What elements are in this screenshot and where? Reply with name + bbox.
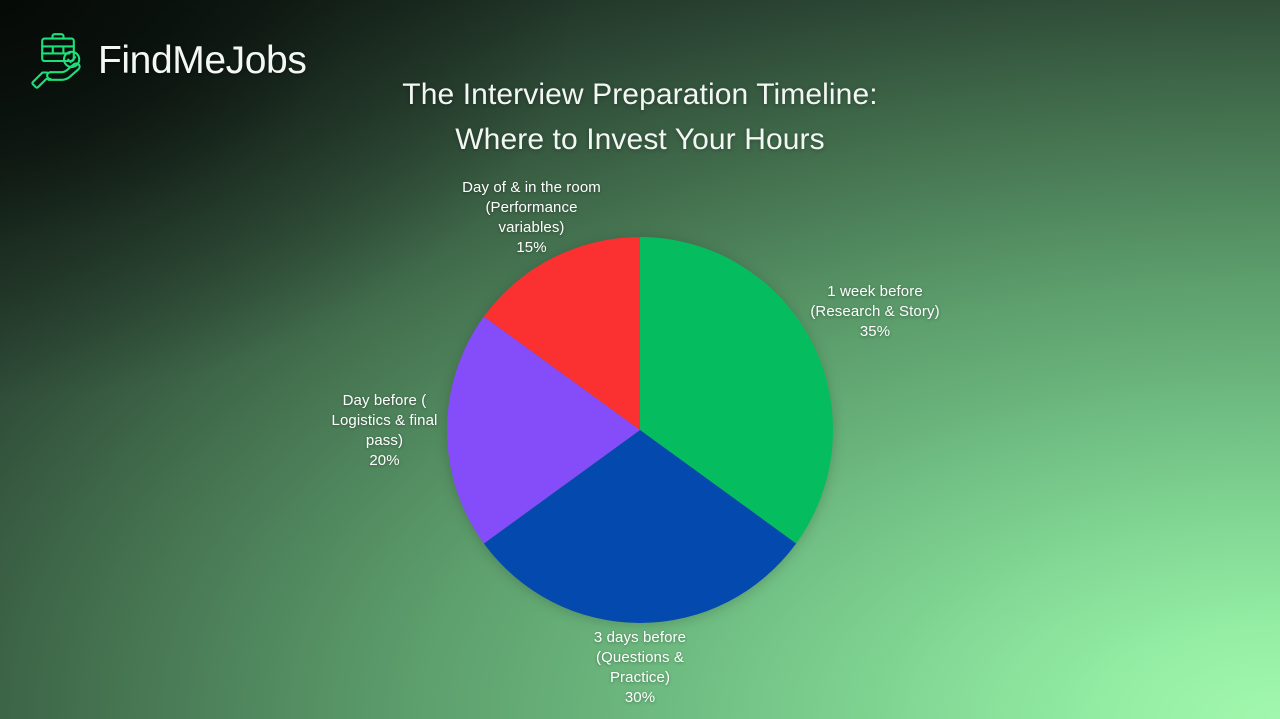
pie-slice-label-day-before: Day before ( Logistics & final pass) 20% xyxy=(312,391,457,471)
pie-slice-label-day-of: Day of & in the room (Performance variab… xyxy=(451,178,612,258)
pie-slice-label-1-week-before: 1 week before (Research & Story) 35% xyxy=(789,282,961,342)
pie-slice-label-3-days-before: 3 days before (Questions & Practice) 30% xyxy=(557,628,723,708)
pie-chart-graphic xyxy=(447,237,833,623)
pie-chart: 1 week before (Research & Story) 35% 3 d… xyxy=(0,0,1280,719)
